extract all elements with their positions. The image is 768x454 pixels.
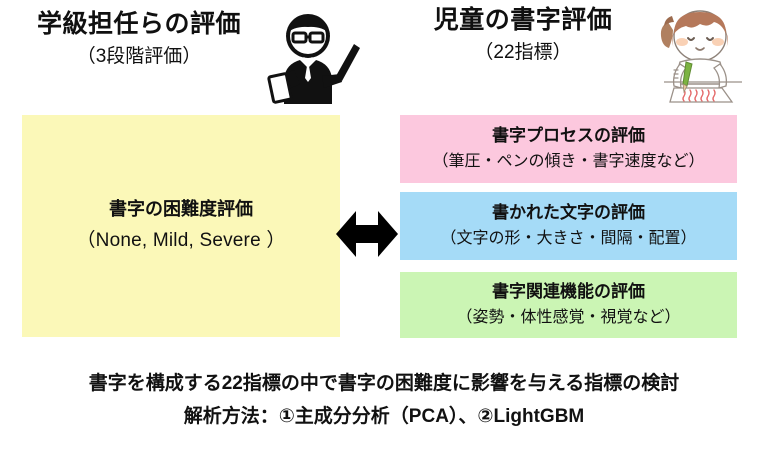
double-headed-arrow-icon	[336, 205, 398, 263]
box-difficulty-title: 書字の困難度評価	[109, 199, 253, 221]
caption-line-2: 解析方法：①主成分分析（PCA）、②LightGBM	[0, 405, 768, 429]
caption-line-1: 書字を構成する22指標の中で書字の困難度に影響を与える指標の検討	[0, 372, 768, 396]
box-related-function-title: 書字関連機能の評価	[492, 282, 645, 302]
box-related-function-subtitle: （姿勢・体性感覚・視覚など）	[456, 308, 680, 328]
child-writing-icon	[650, 2, 746, 106]
box-written-product-title: 書かれた文字の評価	[492, 203, 645, 223]
box-writing-process-title: 書字プロセスの評価	[492, 126, 645, 146]
header-left-title: 学級担任らの評価	[14, 10, 264, 40]
box-related-function: 書字関連機能の評価 （姿勢・体性感覚・視覚など）	[400, 272, 737, 338]
box-writing-process-subtitle: （筆圧・ペンの傾き・書字速度など）	[432, 152, 704, 172]
box-written-product-subtitle: （文字の形・大きさ・間隔・配置）	[440, 229, 696, 249]
box-writing-process: 書字プロセスの評価 （筆圧・ペンの傾き・書字速度など）	[400, 115, 737, 183]
box-difficulty-subtitle: （None, Mild, Severe ）	[76, 229, 285, 253]
header-right-subtitle: （22指標）	[396, 41, 650, 65]
teacher-pointer-icon	[264, 6, 360, 110]
slide-canvas: 学級担任らの評価 （3段階評価）	[0, 0, 768, 454]
header-right-text: 児童の書字評価 （22指標）	[396, 2, 650, 64]
box-difficulty-evaluation: 書字の困難度評価 （None, Mild, Severe ）	[22, 115, 340, 337]
header-left: 学級担任らの評価 （3段階評価）	[14, 6, 360, 110]
header-right-title: 児童の書字評価	[396, 6, 650, 36]
header-right: 児童の書字評価 （22指標）	[396, 2, 746, 106]
box-written-product: 書かれた文字の評価 （文字の形・大きさ・間隔・配置）	[400, 192, 737, 260]
header-left-text: 学級担任らの評価 （3段階評価）	[14, 6, 264, 68]
header-left-subtitle: （3段階評価）	[14, 45, 264, 69]
bottom-caption: 書字を構成する22指標の中で書字の困難度に影響を与える指標の検討 解析方法：①主…	[0, 372, 768, 429]
